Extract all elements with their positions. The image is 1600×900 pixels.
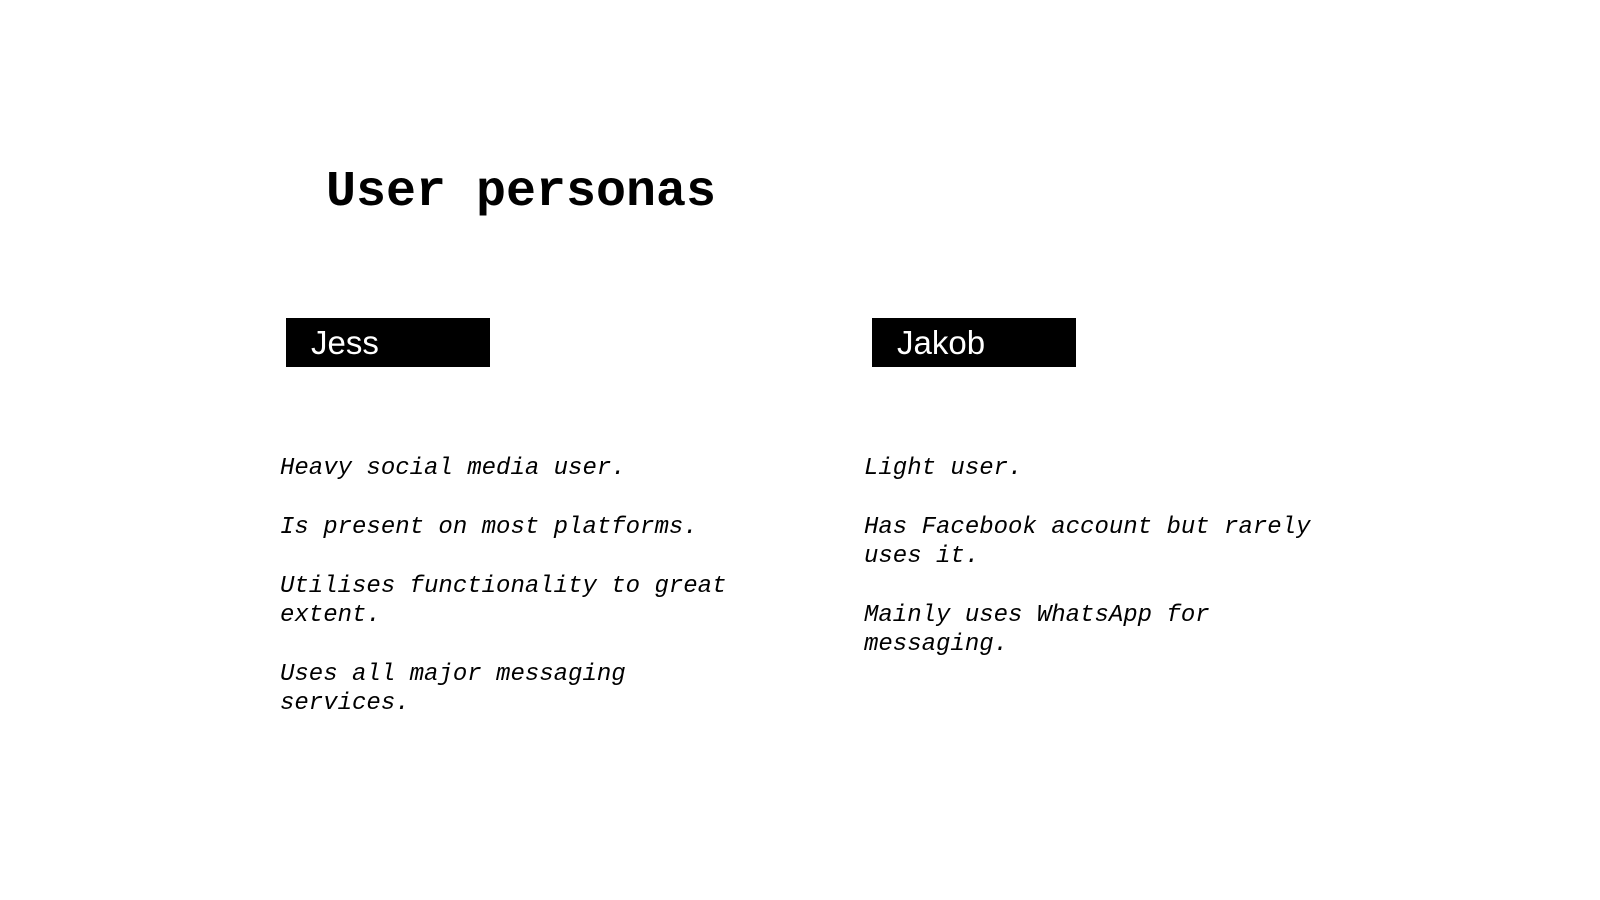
persona-trait: Utilises functionality to great extent. [280,572,750,630]
persona-card-jess: Jess Heavy social media user. Is present… [286,318,766,367]
persona-card-jakob: Jakob Light user. Has Facebook account b… [872,318,1352,367]
persona-name-label: Jess [311,326,379,359]
page-title: User personas [326,163,716,223]
slide-canvas: User personas Jess Heavy social media us… [0,0,1600,900]
persona-trait: Mainly uses WhatsApp for messaging. [864,601,1334,659]
persona-trait: Is present on most platforms. [280,513,750,542]
persona-trait: Has Facebook account but rarely uses it. [864,513,1334,571]
persona-name-badge: Jakob [872,318,1076,367]
persona-trait-list: Heavy social media user. Is present on m… [280,454,750,718]
persona-name-label: Jakob [897,326,985,359]
persona-trait: Uses all major messaging services. [280,660,750,718]
persona-name-badge: Jess [286,318,490,367]
persona-trait: Light user. [864,454,1334,483]
persona-trait-list: Light user. Has Facebook account but rar… [864,454,1334,659]
persona-trait: Heavy social media user. [280,454,750,483]
